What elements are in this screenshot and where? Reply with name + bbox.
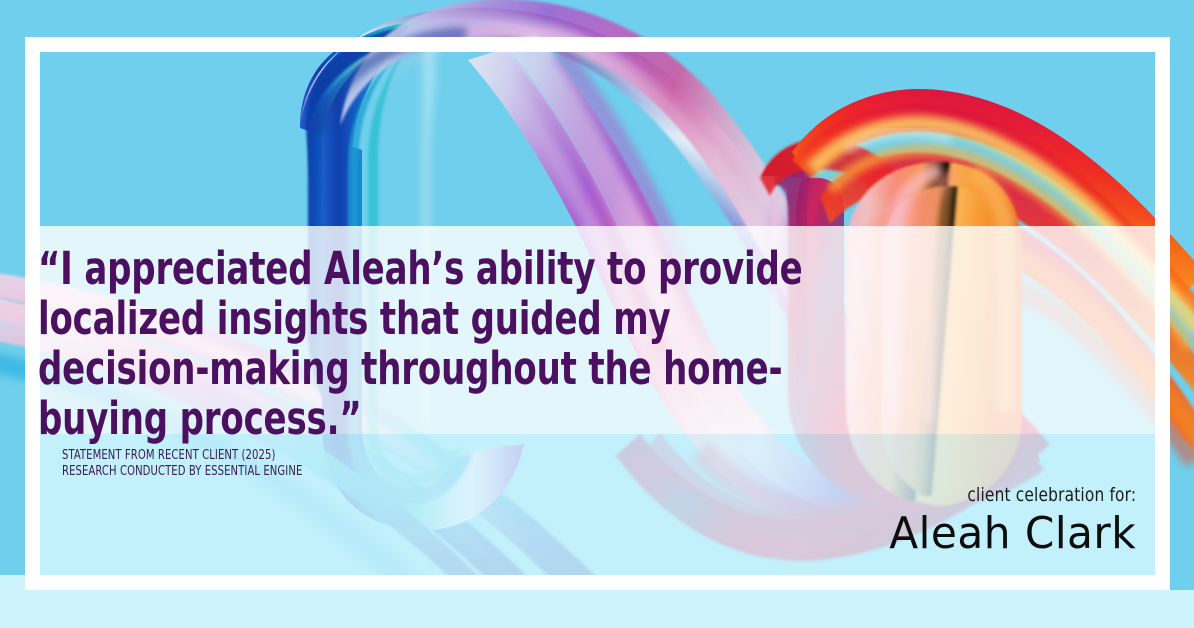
celebration-label: client celebration for: bbox=[905, 484, 1136, 506]
testimonial-card: “I appreciated Aleah’s ability to provid… bbox=[0, 0, 1194, 628]
attribution-line-1: STATEMENT FROM RECENT CLIENT (2025) bbox=[62, 448, 302, 464]
celebration-block: client celebration for: Aleah Clark bbox=[879, 484, 1136, 560]
testimonial-quote: “I appreciated Aleah’s ability to provid… bbox=[38, 244, 828, 444]
attribution-line-2: RESEARCH CONDUCTED BY ESSENTIAL ENGINE bbox=[62, 464, 302, 480]
attribution-block: STATEMENT FROM RECENT CLIENT (2025) RESE… bbox=[62, 448, 302, 480]
celebration-name: Aleah Clark bbox=[889, 508, 1136, 560]
